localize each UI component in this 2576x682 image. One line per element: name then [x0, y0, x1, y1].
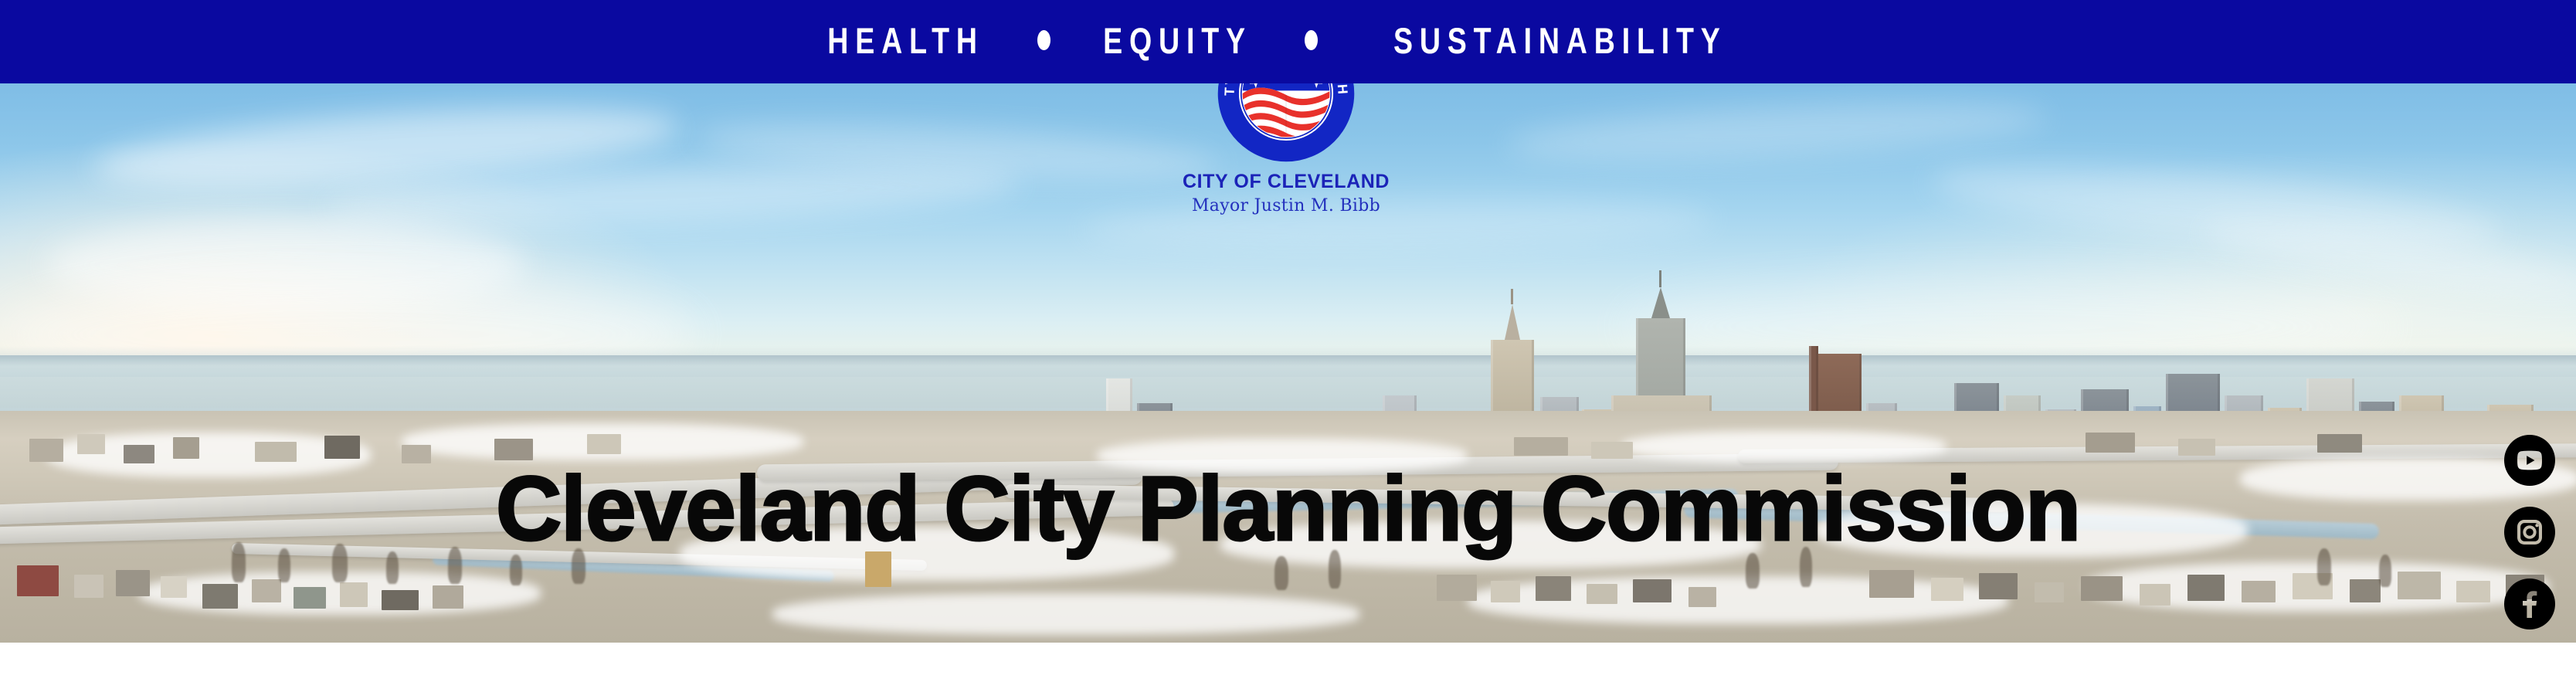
tagline-word-equity: EQUITY — [1103, 22, 1252, 59]
brand-mayor-line: Mayor Justin M. Bibb — [1139, 196, 1433, 216]
bullet-dot-icon — [1037, 30, 1050, 50]
instagram-icon[interactable] — [2504, 507, 2555, 558]
bullet-dot-icon — [1305, 30, 1318, 50]
tagline-word-sustainability: SUSTAINABILITY — [1393, 22, 1727, 59]
cleveland-city-planning-commission-header: HEALTH EQUITY SUSTAINABILITY — [0, 0, 2576, 682]
tagline-inner: HEALTH EQUITY SUSTAINABILITY — [808, 22, 1769, 59]
tagline-word-health: HEALTH — [827, 22, 983, 59]
page-title: Cleveland City Planning Commission — [0, 463, 2576, 555]
social-links — [2503, 435, 2557, 629]
youtube-icon[interactable] — [2504, 435, 2555, 486]
tagline-banner: HEALTH EQUITY SUSTAINABILITY — [0, 0, 2576, 83]
brand-city-name: CITY OF CLEVELAND — [1139, 171, 1433, 193]
bottom-white-strip — [0, 643, 2576, 682]
facebook-icon[interactable] — [2504, 579, 2555, 629]
